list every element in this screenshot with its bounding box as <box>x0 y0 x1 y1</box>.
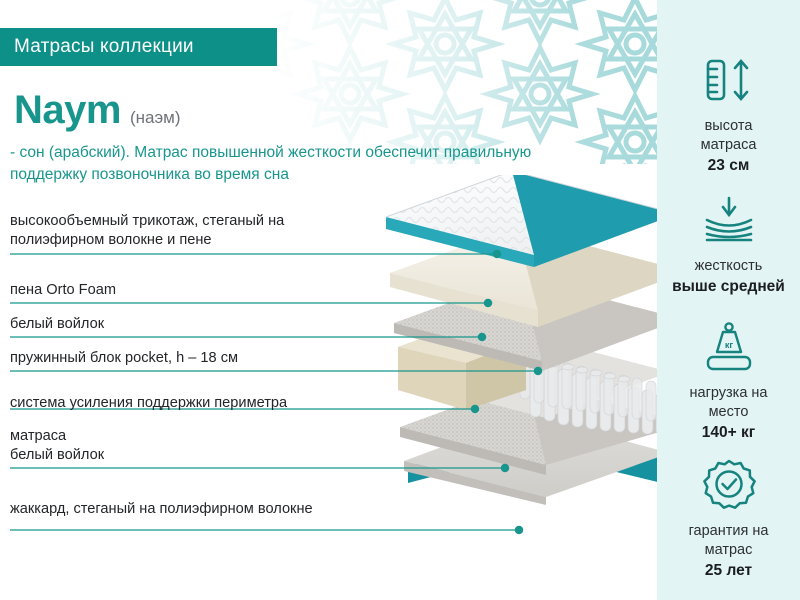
svg-text:кг: кг <box>724 340 733 350</box>
spec-label: нагрузка на место <box>690 384 768 422</box>
spec-value: 23 см <box>708 156 750 176</box>
mattress-height-ruler-icon <box>700 52 758 108</box>
spec-load-capacity: кг нагрузка на место 140+ кг <box>657 319 800 443</box>
layer-label: система усиления поддержки периметра <box>10 394 287 413</box>
spec-label: жесткость <box>695 257 763 276</box>
firmness-press-icon <box>699 192 759 248</box>
mattress-layer-labels: высокообъемный трикотаж, стеганый на пол… <box>0 0 660 600</box>
spec-label: высота матраса <box>701 117 757 155</box>
layer-label: белый войлок <box>10 315 104 334</box>
layer-label: жаккард, стеганый на полиэфирном волокне <box>10 500 313 519</box>
spec-label: гарантия на матрас <box>689 522 769 560</box>
layer-label: пружинный блок pocket, h – 18 см <box>10 349 238 368</box>
spec-mattress-height: высота матраса 23 см <box>657 52 800 176</box>
spec-value: 140+ кг <box>702 423 755 443</box>
spec-firmness: жесткость выше средней <box>657 192 800 297</box>
specs-sidebar: высота матраса 23 см жесткость вы <box>657 0 800 600</box>
weight-load-kg-icon: кг <box>699 319 759 375</box>
spec-value: 25 лет <box>705 561 752 581</box>
layer-label: матраса белый войлок <box>10 427 104 465</box>
layer-label: пена Orto Foam <box>10 281 116 300</box>
spec-value: выше средней <box>672 277 785 297</box>
warranty-check-badge-icon <box>702 457 756 513</box>
promo-banner-page: Матрасы коллекции Naym (наэм) - сон (ара… <box>0 0 800 600</box>
layer-label: высокообъемный трикотаж, стеганый на пол… <box>10 212 284 250</box>
spec-warranty: гарантия на матрас 25 лет <box>657 457 800 581</box>
